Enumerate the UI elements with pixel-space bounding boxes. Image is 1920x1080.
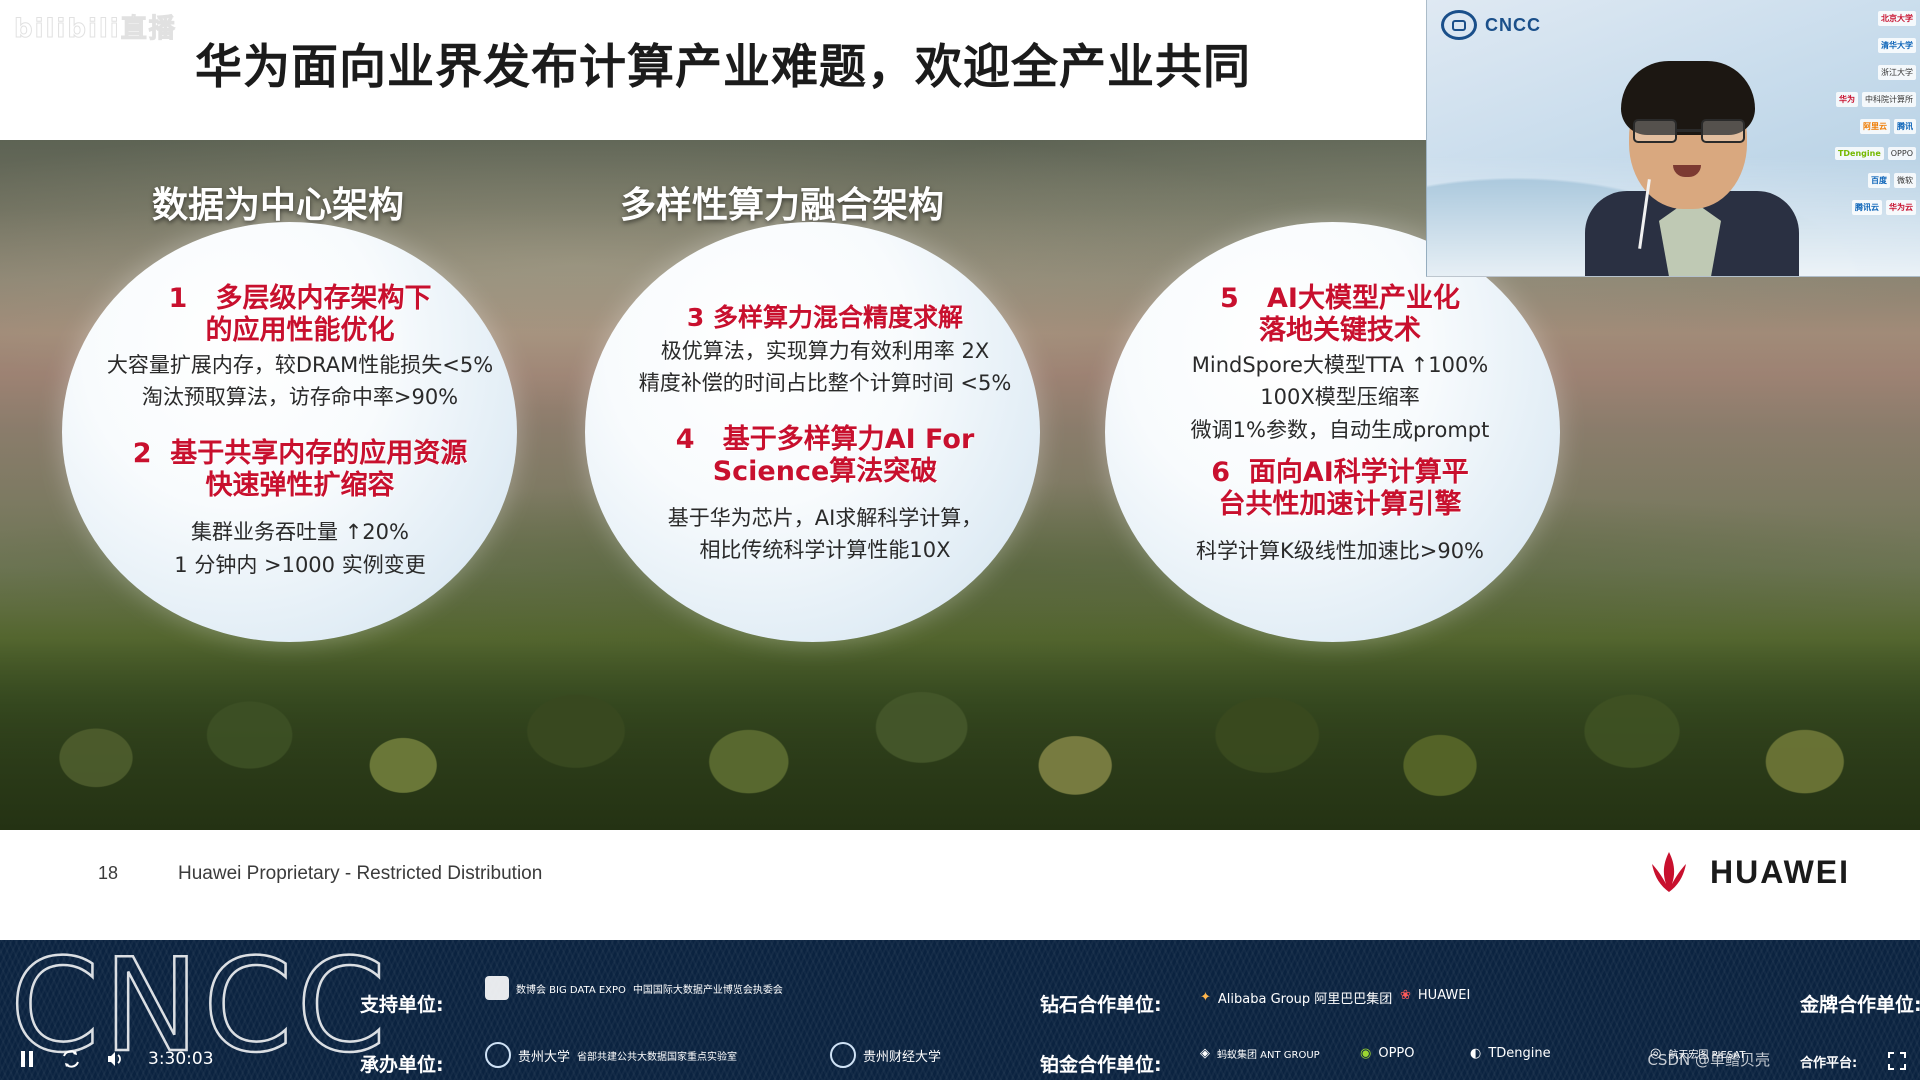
webcam-sponsor-strip: 北京大学 清华大学 浙江大学 华为 中科院计算所 阿里云 腾讯 TDengine…: [1804, 6, 1916, 270]
sponsor-row: 百度 微软: [1804, 168, 1916, 192]
sponsor-item-alibaba: ✦ Alibaba Group 阿里巴巴集团: [1200, 988, 1392, 1007]
sponsor-item-bigdata-expo: 数博会 BIG DATA EXPO 中国国际大数据产业博览会执委会: [485, 976, 783, 1000]
sponsor-label-diamond: 钻石合作单位:: [1040, 990, 1162, 1017]
sponsor-subname: 省部共建公共大数据国家重点实验室: [577, 1048, 737, 1063]
sponsor-chip: 北京大学: [1878, 11, 1916, 26]
huawei-wordmark: HUAWEI: [1710, 854, 1850, 891]
speaker-webcam-overlay[interactable]: CNCC 北京大学 清华大学 浙江大学 华为 中科院计算所 阿里云 腾讯: [1426, 0, 1920, 277]
sponsor-name: 数博会 BIG DATA EXPO: [516, 981, 626, 996]
sponsor-label-support: 支持单位:: [360, 990, 444, 1017]
volume-icon[interactable]: [104, 1048, 126, 1070]
sponsor-chip: 华为: [1836, 92, 1858, 107]
sponsor-item-huawei: ❀ HUAWEI: [1400, 988, 1470, 1003]
sponsor-row: TDengine OPPO: [1804, 141, 1916, 165]
item-4-title: 4 基于多样算力AI For Science算法突破: [545, 424, 1105, 488]
item-2-title: 2 基于共享内存的应用资源 快速弹性扩缩容: [20, 438, 580, 502]
item-4-detail-1: 基于华为芯片，AI求解科学计算，: [545, 505, 1105, 533]
sponsor-chip: 腾讯: [1894, 119, 1916, 134]
confidentiality-notice: Huawei Proprietary - Restricted Distribu…: [178, 863, 542, 885]
cncc-emblem-icon: [1441, 10, 1477, 40]
sponsor-chip: TDengine: [1835, 147, 1884, 160]
sponsor-label-organizer: 承办单位:: [360, 1050, 444, 1077]
sponsor-label-gold: 金牌合作单位:: [1800, 990, 1920, 1017]
sponsor-name: OPPO: [1378, 1046, 1414, 1061]
sponsor-row: 北京大学: [1804, 6, 1916, 30]
group-heading-2: 多样性算力融合架构: [620, 176, 944, 228]
item-1-detail-1: 大容量扩展内存，较DRAM性能损失<5%: [20, 352, 580, 380]
item-5-title: 5 AI大模型产业化 落地关键技术: [1060, 283, 1620, 347]
topic-bubble-1-content: 1 多层级内存架构下 的应用性能优化 大容量扩展内存，较DRAM性能损失<5% …: [20, 283, 580, 579]
csdn-watermark: CSDN @单鳍贝壳: [1647, 1049, 1770, 1070]
fullscreen-icon[interactable]: [1886, 1050, 1908, 1072]
topic-bubble-3-content: 5 AI大模型产业化 落地关键技术 MindSpore大模型TTA ↑100% …: [1060, 283, 1620, 565]
tdengine-logo-icon: ◐: [1470, 1046, 1481, 1061]
sponsor-name: Alibaba Group 阿里巴巴集团: [1218, 988, 1392, 1007]
slide-page-number: 18: [98, 863, 118, 884]
huawei-logo-icon: ❀: [1400, 988, 1411, 1003]
cncc-badge-label: CNCC: [1485, 15, 1541, 36]
sponsor-row: 腾讯云 华为云: [1804, 195, 1916, 219]
sponsor-row: 清华大学: [1804, 33, 1916, 57]
sponsor-item-guizhou-finance-university: 贵州财经大学: [830, 1042, 941, 1068]
slide-footer: 18 Huawei Proprietary - Restricted Distr…: [0, 830, 1920, 940]
sponsor-chip: 阿里云: [1860, 119, 1890, 134]
item-5-detail-1: MindSpore大模型TTA ↑100%: [1060, 352, 1620, 380]
topic-bubble-2-content: 3 多样算力混合精度求解 极优算法，实现算力有效利用率 2X 精度补偿的时间占比…: [545, 303, 1105, 565]
sponsor-row: 浙江大学: [1804, 60, 1916, 84]
item-2-detail-2: 1 分钟内 >1000 实例变更: [20, 552, 580, 580]
sponsor-name: TDengine: [1488, 1046, 1550, 1061]
item-6-detail-1: 科学计算K级线性加速比>90%: [1060, 538, 1620, 566]
sponsor-row: 阿里云 腾讯: [1804, 114, 1916, 138]
huawei-flower-icon: [1642, 850, 1696, 894]
sponsor-item-ant-group: ◈ 蚂蚁集团 ANT GROUP: [1200, 1046, 1320, 1061]
sponsor-chip: 微软: [1894, 173, 1916, 188]
sponsor-name: 蚂蚁集团 ANT GROUP: [1217, 1046, 1320, 1061]
item-1-title: 1 多层级内存架构下 的应用性能优化: [20, 283, 580, 347]
speaker-figure: [1577, 61, 1807, 276]
player-right-controls[interactable]: [1886, 1050, 1908, 1072]
sponsor-name: HUAWEI: [1418, 988, 1470, 1003]
oppo-logo-icon: ◉: [1360, 1046, 1371, 1061]
item-3-detail-1: 极优算法，实现算力有效利用率 2X: [545, 338, 1105, 366]
item-1-detail-2: 淘汰预取算法，访存命中率>90%: [20, 384, 580, 412]
sponsor-row: 华为 中科院计算所: [1804, 87, 1916, 111]
item-6-title: 6 面向AI科学计算平 台共性加速计算引擎: [1060, 457, 1620, 521]
player-controls[interactable]: 3:30:03: [16, 1048, 214, 1070]
loop-icon[interactable]: [60, 1048, 82, 1070]
bottom-sponsor-banner: CNCC 支持单位: 数博会 BIG DATA EXPO 中国国际大数据产业博览…: [0, 940, 1920, 1080]
sponsor-chip: 腾讯云: [1852, 200, 1882, 215]
sponsor-name: 贵州财经大学: [863, 1046, 941, 1065]
pause-icon[interactable]: [16, 1048, 38, 1070]
guizhou-finance-university-seal-icon: [830, 1042, 856, 1068]
speaker-glasses-icon: [1633, 119, 1745, 143]
sponsor-item-guizhou-university: 贵州大学 省部共建公共大数据国家重点实验室: [485, 1042, 737, 1068]
huawei-logo: HUAWEI: [1642, 850, 1850, 894]
item-5-detail-3: 微调1%参数，自动生成prompt: [1060, 417, 1620, 445]
sponsor-chip: 华为云: [1886, 200, 1916, 215]
cncc-badge: CNCC: [1441, 10, 1541, 40]
item-3-detail-2: 精度补偿的时间占比整个计算时间 <5%: [545, 370, 1105, 398]
sponsor-chip: 清华大学: [1878, 38, 1916, 53]
sponsor-item-oppo: ◉ OPPO: [1360, 1046, 1415, 1061]
ant-group-logo-icon: ◈: [1200, 1046, 1210, 1061]
sponsor-label-platinum: 铂金合作单位:: [1040, 1050, 1162, 1077]
forest-decoration: [0, 640, 1920, 830]
sponsor-subname: 中国国际大数据产业博览会执委会: [633, 981, 783, 996]
bigdata-expo-logo-icon: [485, 976, 509, 1000]
sponsor-chip: 浙江大学: [1878, 65, 1916, 80]
sponsor-chip: 中科院计算所: [1862, 92, 1916, 107]
guizhou-university-seal-icon: [485, 1042, 511, 1068]
sponsor-chip: OPPO: [1888, 147, 1916, 160]
bilibili-watermark: bilibili直播: [14, 8, 177, 45]
sponsor-chip: 百度: [1868, 173, 1890, 188]
sponsor-name: 贵州大学: [518, 1046, 570, 1065]
group-heading-1: 数据为中心架构: [152, 176, 404, 228]
item-3-title: 3 多样算力混合精度求解: [545, 303, 1105, 333]
stream-viewport: bilibili直播 华为面向业界发布计算产业难题，欢迎全产业共同 数据为中心架…: [0, 0, 1920, 1080]
item-4-detail-2: 相比传统科学计算性能10X: [545, 537, 1105, 565]
sponsor-label-platform: 合作平台:: [1800, 1052, 1857, 1071]
item-5-detail-2: 100X模型压缩率: [1060, 384, 1620, 412]
item-2-detail-1: 集群业务吞吐量 ↑20%: [20, 519, 580, 547]
elapsed-time: 3:30:03: [148, 1049, 214, 1069]
alibaba-logo-icon: ✦: [1200, 990, 1211, 1005]
sponsor-item-tdengine: ◐ TDengine: [1470, 1046, 1551, 1061]
